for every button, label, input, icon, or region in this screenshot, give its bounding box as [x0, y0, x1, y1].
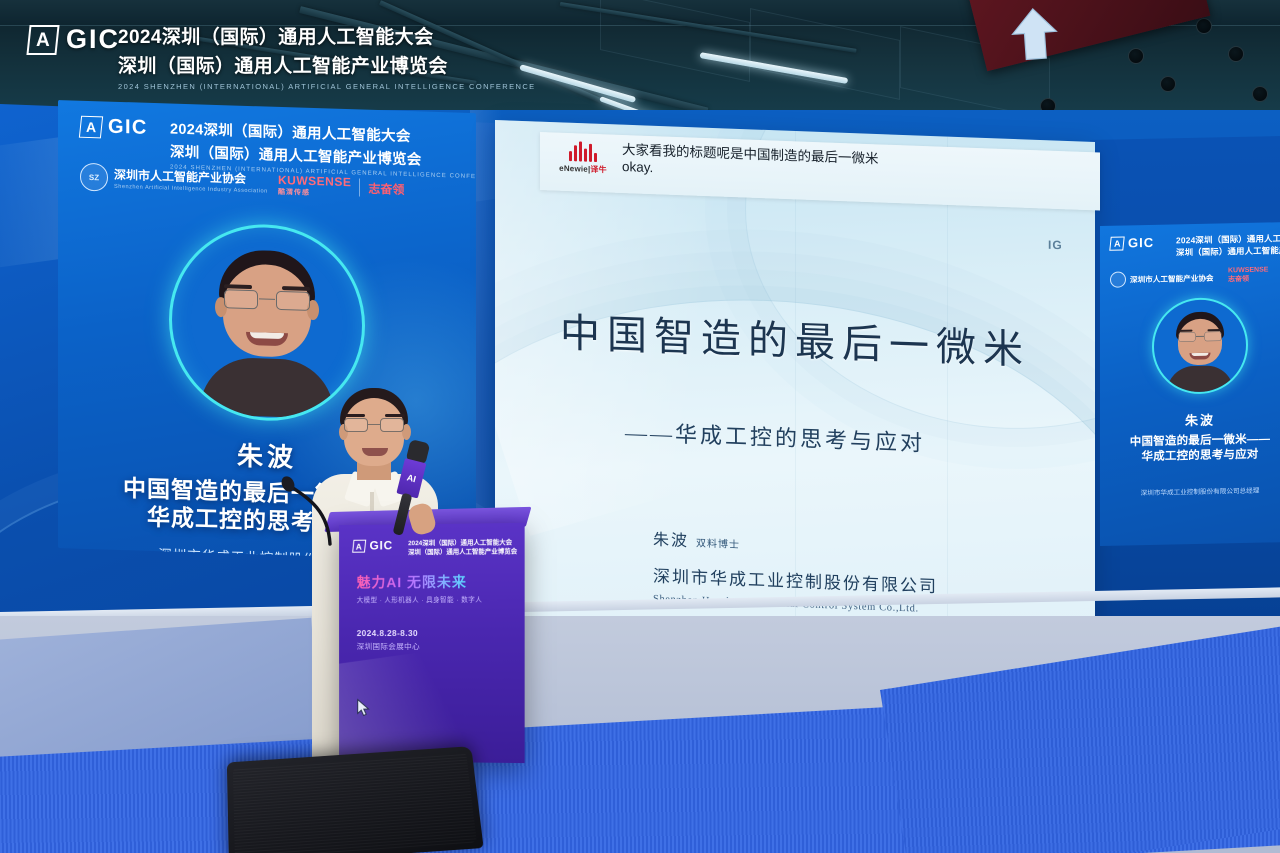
ceiling-tube-light: [519, 64, 636, 103]
podium-venue: 深圳国际会展中心: [357, 641, 420, 652]
conference-stage-photo: Halls 出口 EXIT A GIC 2024深圳（国: [0, 0, 1280, 853]
slide-speaker-credential: 双料博士: [696, 538, 740, 551]
ceiling-light-fixture: [1160, 76, 1176, 92]
right-banner-title-2: 深圳（国际）通用人工智能产业博览会: [1176, 243, 1280, 258]
right-banner-topic: 中国智造的最后一微米—— 华成工控的思考与应对: [1100, 432, 1280, 466]
speaker-grille: [233, 752, 477, 853]
presenter-glasses-icon: [343, 418, 405, 433]
cursor-arrow-icon: [357, 699, 371, 722]
microphone-flag-label: AI: [406, 472, 417, 484]
sponsor-kuwsense: KUWSENSE 酷渭传感: [278, 173, 351, 199]
right-banner-titles: 2024深圳（国际）通用人工智能大会 深圳（国际）通用人工智能产业博览会: [1176, 231, 1280, 258]
slide-org-cn: 深圳市华成工业控制股份有限公司: [653, 562, 938, 597]
enewie-logo-text: eNewie|译牛: [550, 162, 616, 175]
sponsor-divider: [359, 178, 360, 196]
right-sponsor-1: KUWSENSE: [1228, 266, 1268, 276]
podium-date: 2024.8.28-8.30: [357, 628, 418, 638]
portrait-brow-left: [1179, 329, 1193, 331]
podium-lectern: A GIC 2024深圳（国际）通用人工智能大会 深圳（国际）通用人工智能产业博…: [339, 523, 525, 763]
right-banner-topic-line2: 华成工控的思考与应对: [1100, 447, 1280, 466]
portrait-glasses-icon: [222, 289, 312, 312]
presenter-brow-left: [345, 414, 365, 417]
portrait-face: [1163, 309, 1238, 395]
slide-speaker-name: 朱波: [653, 532, 689, 550]
agic-logo-word: GIC: [108, 116, 148, 140]
led-panel-seam: [947, 137, 948, 657]
association-text: 深圳市人工智能产业协会 Shenzhen Artificial Intellig…: [114, 166, 268, 195]
association-seal-icon: [1110, 271, 1126, 287]
podium-slogan: 魅力AI 无限未来: [357, 572, 467, 593]
portrait-glasses-icon: [1178, 331, 1223, 342]
podium-titles: 2024深圳（国际）通用人工智能大会 深圳（国际）通用人工智能产业博览会: [408, 537, 517, 556]
right-speaker-portrait: [1152, 297, 1248, 395]
right-speaker-banner: A GIC 2024深圳（国际）通用人工智能大会 深圳（国际）通用人工智能产业博…: [1100, 222, 1280, 546]
enewie-logo: eNewie|译牛: [550, 138, 616, 175]
sponsor-zhifenling: 志奋领: [368, 179, 404, 197]
association-seal-icon: SZ: [80, 163, 108, 192]
presenter-brow-right: [385, 414, 405, 417]
ceiling-light-fixture: [1196, 18, 1212, 34]
sponsor-block: KUWSENSE 酷渭传感 志奋领: [278, 173, 404, 201]
portrait-brow-right: [1208, 328, 1222, 330]
enewie-logo-name: eNewie: [559, 164, 588, 174]
screen-corner-mark: IG: [1048, 238, 1063, 253]
right-banner-logo: A GIC: [1110, 235, 1154, 251]
portrait-mouth: [1190, 352, 1211, 359]
presenter-mouth: [362, 448, 388, 456]
enewie-bars-icon: [550, 140, 616, 162]
right-sponsor-block: KUWSENSE 志奋领: [1228, 266, 1268, 284]
right-banner-speaker-name: 朱波: [1100, 408, 1280, 431]
left-banner-logo: A GIC: [80, 115, 148, 140]
right-association-block: 深圳市人工智能产业协会: [1110, 270, 1214, 288]
association-block: SZ 深圳市人工智能产业协会 Shenzhen Artificial Intel…: [80, 163, 268, 197]
ceiling-light-fixture: [1252, 86, 1268, 102]
agic-logo-mark: A: [352, 539, 366, 552]
microphone-body: [393, 493, 413, 536]
ceiling-light-fixture: [1228, 46, 1244, 62]
podium-topic-tags: 大模型 · 人形机器人 · 具身智能 · 数字人: [357, 594, 482, 605]
podium-logo: A GIC: [353, 538, 393, 552]
agic-logo-word: GIC: [1128, 235, 1154, 251]
right-association-name: 深圳市人工智能产业协会: [1130, 272, 1214, 285]
right-banner-organization: 深圳市华成工业控制股份有限公司总经理: [1100, 484, 1280, 498]
stage-monitor-speaker: [227, 746, 484, 853]
enewie-logo-name-cn: 译牛: [590, 165, 606, 175]
agic-logo-mark: A: [1109, 236, 1124, 250]
agic-logo-letter: A: [356, 541, 362, 551]
agic-logo-letter: A: [86, 119, 96, 133]
agic-logo-mark: A: [79, 115, 103, 138]
ceiling-light-fixture: [1128, 48, 1144, 64]
agic-logo-letter: A: [1114, 238, 1121, 248]
podium-title-2: 深圳（国际）通用人工智能产业博览会: [408, 546, 517, 556]
gooseneck-microphone: [268, 470, 338, 550]
hall-wayfinding-sign: Halls: [965, 0, 1210, 71]
right-sponsor-2: 志奋领: [1228, 275, 1268, 285]
agic-logo-word: GIC: [370, 538, 393, 552]
portrait-shirt: [1167, 365, 1234, 395]
